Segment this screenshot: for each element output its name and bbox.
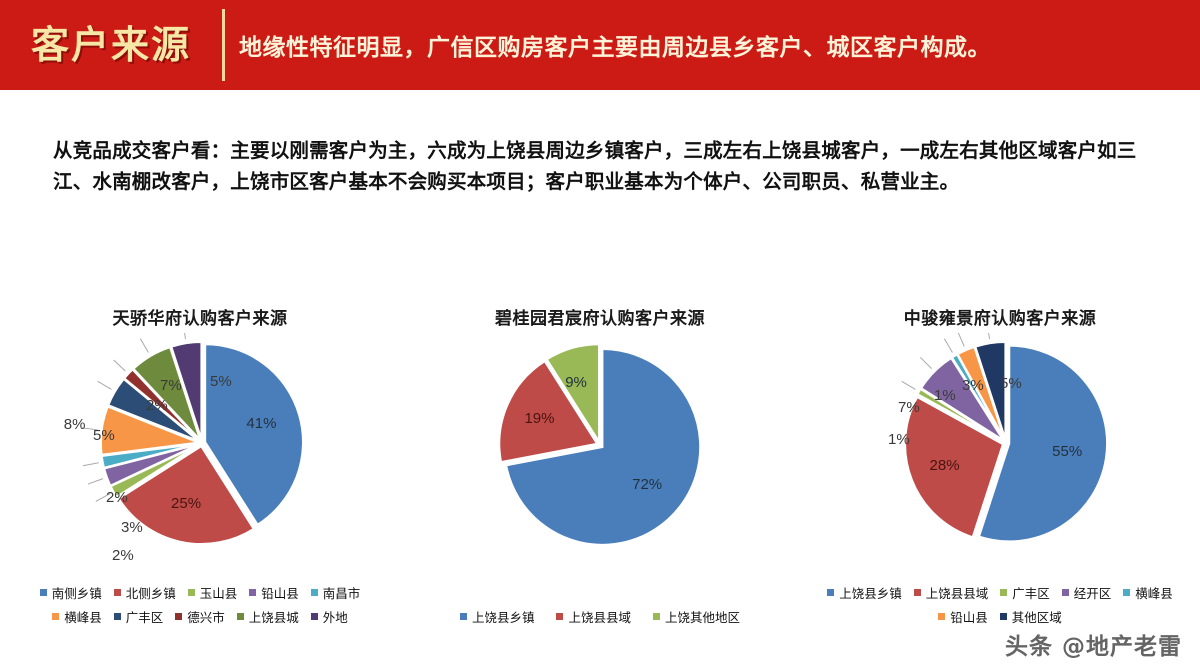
charts-row: 天骄华府认购客户来源 41%25%2%3%2%8%5%2%7%5% 南侧乡镇北侧… bbox=[0, 296, 1200, 626]
legend-label: 铅山县 bbox=[261, 583, 299, 602]
pie-canvas: 55%28%1%7%1%3%5% bbox=[800, 329, 1200, 559]
legend-label: 南侧乡镇 bbox=[52, 583, 102, 602]
legend-label: 横峰县 bbox=[64, 607, 102, 626]
pie-chart-2 bbox=[450, 333, 750, 559]
legend-swatch-icon bbox=[52, 613, 59, 620]
legend-item[interactable]: 横峰县 bbox=[52, 607, 102, 626]
legend-label: 铅山县 bbox=[950, 607, 988, 626]
pie-slice-label: 7% bbox=[160, 377, 182, 394]
legend-item[interactable]: 广丰区 bbox=[114, 607, 164, 626]
header-banner: 客户来源 地缘性特征明显，广信区购房客户主要由周边县乡客户、城区客户构成。 bbox=[0, 0, 1200, 90]
chart-zhongjun-yongjingfu: 中骏雍景府认购客户来源 55%28%1%7%1%3%5% 上饶县乡镇上饶县县域广… bbox=[800, 296, 1200, 626]
legend-swatch-icon bbox=[1000, 613, 1007, 620]
legend-item[interactable]: 横峰县 bbox=[1123, 583, 1173, 602]
legend-item[interactable]: 外地 bbox=[311, 607, 348, 626]
chart-title: 天骄华府认购客户来源 bbox=[0, 304, 400, 329]
label-leader-line bbox=[987, 333, 990, 339]
label-leader-line bbox=[183, 333, 186, 339]
chart-biguiyuan-junchenfu: 碧桂园君宸府认购客户来源 72%19%9% 上饶县乡镇上饶县县域上饶其他地区 bbox=[400, 296, 800, 626]
legend-swatch-icon bbox=[311, 613, 318, 620]
legend-swatch-icon bbox=[114, 589, 121, 596]
banner-subtitle: 地缘性特征明显，广信区购房客户主要由周边县乡客户、城区客户构成。 bbox=[239, 28, 991, 62]
legend-item[interactable]: 铅山县 bbox=[938, 607, 988, 626]
pie-slice-label: 1% bbox=[934, 387, 956, 404]
label-leader-line bbox=[944, 339, 952, 353]
pie-slice-label: 9% bbox=[565, 374, 587, 391]
legend-swatch-icon bbox=[556, 613, 563, 620]
pie-slice-label: 2% bbox=[112, 547, 134, 564]
legend-swatch-icon bbox=[188, 589, 195, 596]
chart-legend-3: 上饶县乡镇上饶县县域广丰区经开区横峰县铅山县其他区域 bbox=[800, 583, 1200, 626]
legend-swatch-icon bbox=[249, 589, 256, 596]
legend-item[interactable]: 上饶其他地区 bbox=[653, 607, 740, 626]
label-leader-line bbox=[88, 479, 103, 484]
pie-canvas: 41%25%2%3%2%8%5%2%7%5% bbox=[0, 329, 400, 559]
pie-chart-1 bbox=[50, 333, 350, 559]
legend-label: 广丰区 bbox=[126, 607, 164, 626]
legend-item[interactable]: 上饶县乡镇 bbox=[460, 607, 535, 626]
chart-title: 中骏雍景府认购客户来源 bbox=[800, 304, 1200, 329]
legend-item[interactable]: 铅山县 bbox=[249, 583, 299, 602]
label-leader-line bbox=[140, 339, 148, 353]
legend-swatch-icon bbox=[460, 613, 467, 620]
lead-paragraph: 从竞品成交客户看：主要以刚需客户为主，六成为上饶县周边乡镇客户，三成左右上饶县城… bbox=[53, 136, 1163, 198]
legend-item[interactable]: 上饶县县域 bbox=[914, 583, 989, 602]
pie-slice-label: 5% bbox=[93, 427, 115, 444]
pie-slice-label: 28% bbox=[930, 457, 960, 474]
legend-label: 横峰县 bbox=[1135, 583, 1173, 602]
legend-swatch-icon bbox=[237, 613, 244, 620]
pie-slice-label: 3% bbox=[121, 519, 143, 536]
legend-label: 经开区 bbox=[1074, 583, 1112, 602]
legend-item[interactable]: 上饶县乡镇 bbox=[827, 583, 902, 602]
slide-root: 客户来源 地缘性特征明显，广信区购房客户主要由周边县乡客户、城区客户构成。 从竞… bbox=[0, 0, 1200, 671]
pie-slice-label: 25% bbox=[171, 495, 201, 512]
label-leader-line bbox=[958, 333, 964, 346]
pie-slice-label: 5% bbox=[210, 373, 232, 390]
legend-label: 上饶县县域 bbox=[568, 607, 631, 626]
chart-tianjiao-huafu: 天骄华府认购客户来源 41%25%2%3%2%8%5%2%7%5% 南侧乡镇北侧… bbox=[0, 296, 400, 626]
pie-canvas: 72%19%9% bbox=[400, 329, 800, 559]
legend-swatch-icon bbox=[40, 589, 47, 596]
legend-label: 其他区域 bbox=[1012, 607, 1062, 626]
label-leader-line bbox=[114, 360, 126, 371]
legend-item[interactable]: 上饶县城 bbox=[237, 607, 299, 626]
pie-slice-label: 2% bbox=[106, 489, 128, 506]
legend-label: 上饶县乡镇 bbox=[839, 583, 902, 602]
legend-item[interactable]: 其他区域 bbox=[1000, 607, 1062, 626]
legend-swatch-icon bbox=[938, 613, 945, 620]
legend-item[interactable]: 经开区 bbox=[1062, 583, 1112, 602]
legend-label: 广丰区 bbox=[1012, 583, 1050, 602]
legend-item[interactable]: 玉山县 bbox=[188, 583, 238, 602]
pie-slice-label: 3% bbox=[962, 377, 984, 394]
pie-slice-label: 1% bbox=[888, 431, 910, 448]
page-title: 客户来源 bbox=[0, 26, 222, 64]
legend-label: 上饶县县域 bbox=[926, 583, 989, 602]
legend-swatch-icon bbox=[114, 613, 121, 620]
legend-label: 外地 bbox=[323, 607, 348, 626]
legend-item[interactable]: 南侧乡镇 bbox=[40, 583, 102, 602]
legend-swatch-icon bbox=[1000, 589, 1007, 596]
legend-label: 玉山县 bbox=[200, 583, 238, 602]
pie-slice-label: 7% bbox=[898, 399, 920, 416]
legend-swatch-icon bbox=[653, 613, 660, 620]
legend-swatch-icon bbox=[311, 589, 318, 596]
legend-label: 上饶其他地区 bbox=[665, 607, 740, 626]
legend-item[interactable]: 南昌市 bbox=[311, 583, 361, 602]
legend-swatch-icon bbox=[175, 613, 182, 620]
pie-slice-label: 72% bbox=[632, 476, 662, 493]
watermark: 头条 @地产老雷 bbox=[1005, 627, 1182, 661]
legend-item[interactable]: 上饶县县域 bbox=[556, 607, 631, 626]
legend-label: 上饶县乡镇 bbox=[472, 607, 535, 626]
legend-swatch-icon bbox=[827, 589, 834, 596]
chart-legend-1: 南侧乡镇北侧乡镇玉山县铅山县南昌市横峰县广丰区德兴市上饶县城外地 bbox=[0, 583, 400, 626]
pie-slice-label: 8% bbox=[64, 416, 86, 433]
label-leader-line bbox=[98, 381, 112, 389]
legend-label: 德兴市 bbox=[187, 607, 225, 626]
legend-item[interactable]: 德兴市 bbox=[175, 607, 225, 626]
legend-label: 上饶县城 bbox=[249, 607, 299, 626]
legend-swatch-icon bbox=[914, 589, 921, 596]
legend-item[interactable]: 广丰区 bbox=[1000, 583, 1050, 602]
label-leader-line bbox=[920, 357, 931, 368]
pie-slice-label: 2% bbox=[146, 397, 168, 414]
label-leader-line bbox=[83, 463, 99, 466]
legend-swatch-icon bbox=[1123, 589, 1130, 596]
legend-label: 南昌市 bbox=[323, 583, 361, 602]
pie-slice-label: 55% bbox=[1052, 443, 1082, 460]
pie-slice-label: 19% bbox=[524, 410, 554, 427]
pie-slice-label: 41% bbox=[246, 415, 276, 432]
label-leader-line bbox=[902, 381, 916, 389]
pie-slice-label: 5% bbox=[1000, 375, 1022, 392]
legend-item[interactable]: 北侧乡镇 bbox=[114, 583, 176, 602]
banner-divider bbox=[222, 9, 225, 81]
legend-swatch-icon bbox=[1062, 589, 1069, 596]
chart-title: 碧桂园君宸府认购客户来源 bbox=[400, 304, 800, 329]
legend-label: 北侧乡镇 bbox=[126, 583, 176, 602]
chart-legend-2: 上饶县乡镇上饶县县域上饶其他地区 bbox=[400, 607, 800, 626]
